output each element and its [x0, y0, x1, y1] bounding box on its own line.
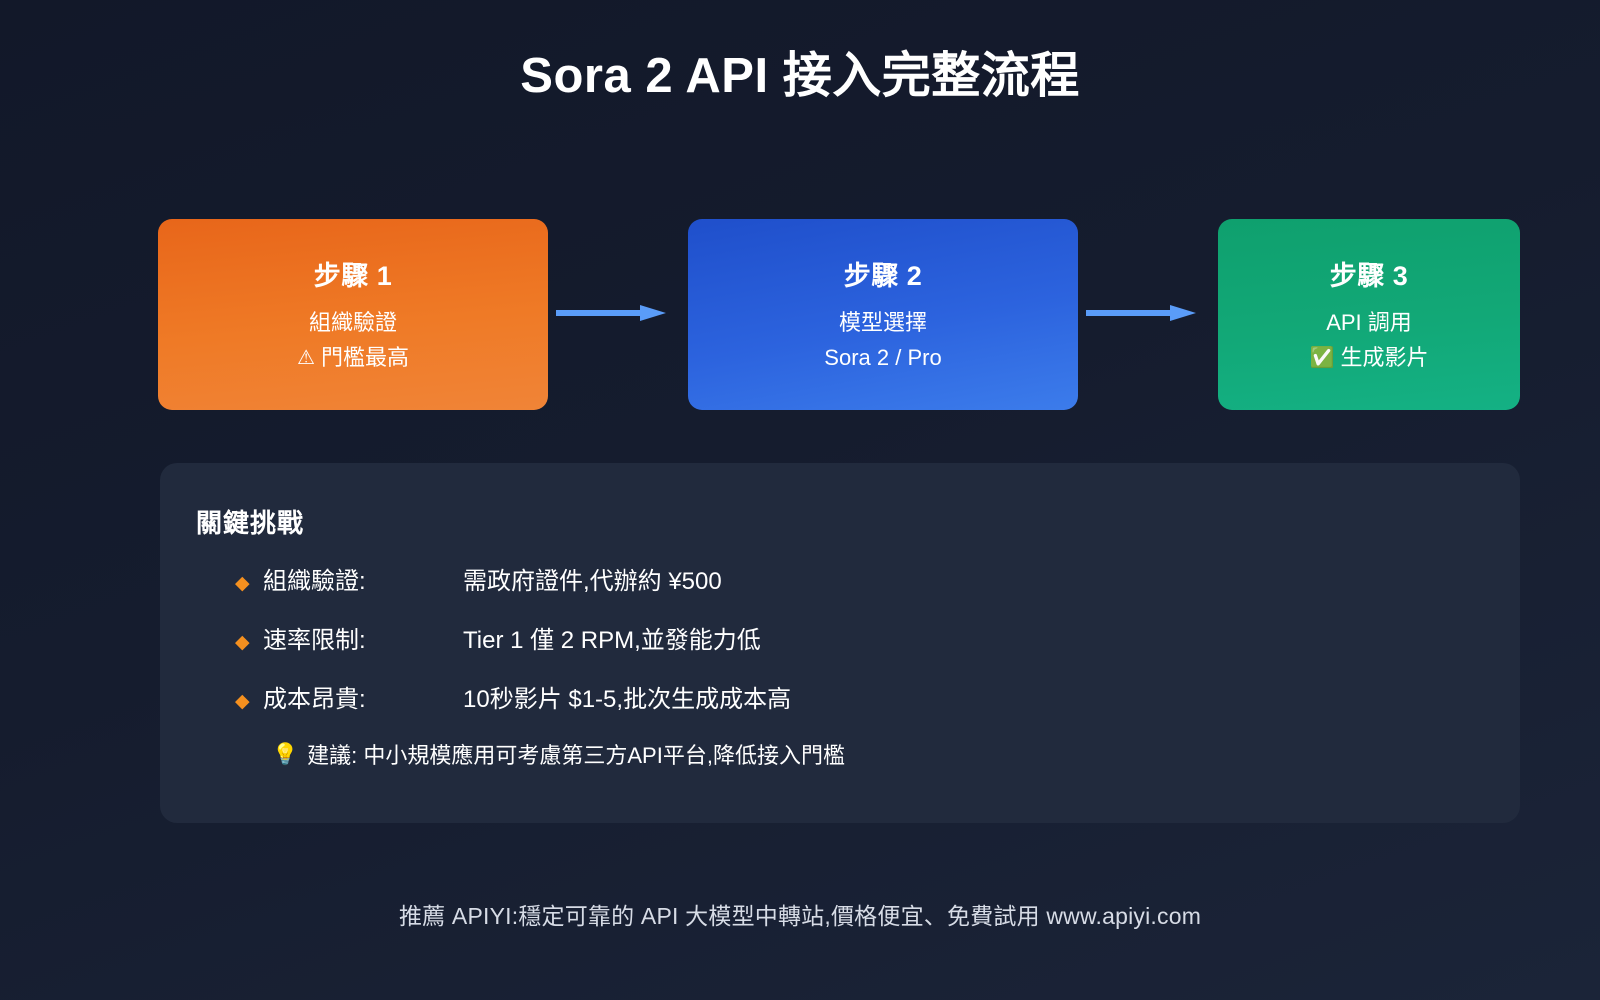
- challenge-value: 10秒影片 $1-5,批次生成成本高: [463, 679, 791, 714]
- flow-step-1-note: 門檻最高: [321, 341, 409, 375]
- diamond-bullet-icon: ◆: [235, 633, 263, 652]
- panel-title: 關鍵挑戰: [196, 503, 304, 540]
- light-bulb-icon: 💡: [272, 744, 298, 765]
- challenge-list: ◆ 組織驗證: 需政府證件,代辦約 ¥500 ◆ 速率限制: Tier 1 僅 …: [235, 561, 1485, 738]
- flow-step-2-subtitle: 模型選擇: [839, 306, 927, 340]
- flow-step-3-card[interactable]: 步驟 3 API 調用 ✅ 生成影片: [1218, 219, 1520, 410]
- flow-step-1-subtitle: 組織驗證: [309, 306, 397, 340]
- flow-step-2-note-row: Sora 2 / Pro: [824, 341, 941, 375]
- challenge-value: Tier 1 僅 2 RPM,並發能力低: [463, 620, 761, 655]
- flow-step-2-heading: 步驟 2: [844, 254, 923, 293]
- flow-step-2-subtitle-row: 模型選擇: [839, 306, 927, 340]
- flow-step-2-note: Sora 2 / Pro: [824, 341, 941, 375]
- challenge-value: 需政府證件,代辦約 ¥500: [463, 561, 722, 596]
- warning-triangle-icon: ⚠: [297, 348, 315, 368]
- challenge-label: 成本昂貴:: [263, 679, 463, 714]
- recommendation-tip-text: 建議: 中小規模應用可考慮第三方API平台,降低接入門檻: [307, 738, 845, 770]
- challenge-label: 速率限制:: [263, 620, 463, 655]
- flow-step-3-subtitle: API 調用: [1326, 306, 1412, 340]
- challenge-row: ◆ 成本昂貴: 10秒影片 $1-5,批次生成成本高: [235, 679, 1485, 738]
- footer-promo-text: 推薦 APIYI:穩定可靠的 API 大模型中轉站,價格便宜、免費試用 www.…: [0, 897, 1600, 931]
- check-mark-button-icon: ✅: [1310, 348, 1335, 368]
- challenge-row: ◆ 組織驗證: 需政府證件,代辦約 ¥500: [235, 561, 1485, 620]
- flow-step-1-note-row: ⚠ 門檻最高: [297, 341, 409, 375]
- flow-step-3-note-row: ✅ 生成影片: [1310, 341, 1429, 375]
- page-title: Sora 2 API 接入完整流程: [0, 48, 1600, 104]
- challenge-row: ◆ 速率限制: Tier 1 僅 2 RPM,並發能力低: [235, 620, 1485, 679]
- flow-step-1-heading: 步驟 1: [314, 254, 393, 293]
- diamond-bullet-icon: ◆: [235, 574, 263, 593]
- flow-step-1-card[interactable]: 步驟 1 組織驗證 ⚠ 門檻最高: [158, 219, 548, 410]
- recommendation-tip: 💡 建議: 中小規模應用可考慮第三方API平台,降低接入門檻: [272, 738, 845, 770]
- flow-step-3-subtitle-row: API 調用: [1326, 306, 1412, 340]
- flow-step-3-note: 生成影片: [1340, 341, 1428, 375]
- flow-step-1-subtitle-row: 組織驗證: [309, 306, 397, 340]
- arrow-step2-to-step3: [1086, 303, 1196, 323]
- flow-step-3-heading: 步驟 3: [1330, 254, 1409, 293]
- arrow-step1-to-step2: [556, 303, 666, 323]
- key-challenges-panel: 關鍵挑戰 ◆ 組織驗證: 需政府證件,代辦約 ¥500 ◆ 速率限制: Tier…: [160, 463, 1520, 823]
- challenge-label: 組織驗證:: [263, 561, 463, 596]
- diamond-bullet-icon: ◆: [235, 692, 263, 711]
- flow-diagram: 步驟 1 組織驗證 ⚠ 門檻最高 步驟 2 模型選擇 Sora 2 / Pro …: [158, 219, 1520, 410]
- flow-step-2-card[interactable]: 步驟 2 模型選擇 Sora 2 / Pro: [688, 219, 1078, 410]
